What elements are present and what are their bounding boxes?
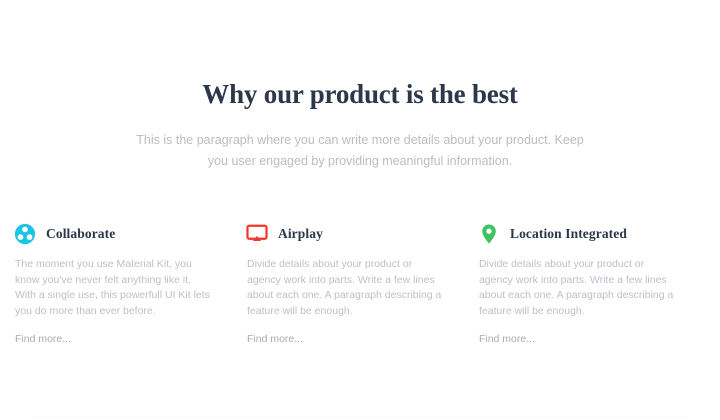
feature-card-location-integrated: Location Integrated Divide details about… xyxy=(476,222,708,347)
features-row: Collaborate The moment you use Material … xyxy=(0,222,720,347)
feature-card-airplay: Airplay Divide details about your produc… xyxy=(244,222,476,347)
feature-description: Divide details about your product or age… xyxy=(246,257,442,319)
bottom-divider xyxy=(28,417,692,418)
feature-header: Location Integrated xyxy=(478,222,684,246)
feature-card-collaborate: Collaborate The moment you use Material … xyxy=(12,222,244,347)
feature-title: Collaborate xyxy=(46,226,115,242)
feature-title: Airplay xyxy=(278,226,323,242)
section-header: Why our product is the best This is the … xyxy=(0,0,720,172)
feature-title: Location Integrated xyxy=(510,226,627,242)
page-subtitle: This is the paragraph where you can writ… xyxy=(130,130,590,172)
location-pin-icon xyxy=(478,223,500,245)
airplay-icon xyxy=(246,223,268,245)
find-more-link[interactable]: Find more... xyxy=(246,332,303,347)
feature-header: Collaborate xyxy=(14,222,220,246)
page-title: Why our product is the best xyxy=(0,78,720,110)
find-more-link[interactable]: Find more... xyxy=(14,332,71,347)
features-section: Why our product is the best This is the … xyxy=(0,0,720,420)
feature-description: Divide details about your product or age… xyxy=(478,257,674,319)
feature-header: Airplay xyxy=(246,222,452,246)
feature-description: The moment you use Material Kit, you kno… xyxy=(14,257,210,319)
find-more-link[interactable]: Find more... xyxy=(478,332,535,347)
group-icon xyxy=(14,223,36,245)
